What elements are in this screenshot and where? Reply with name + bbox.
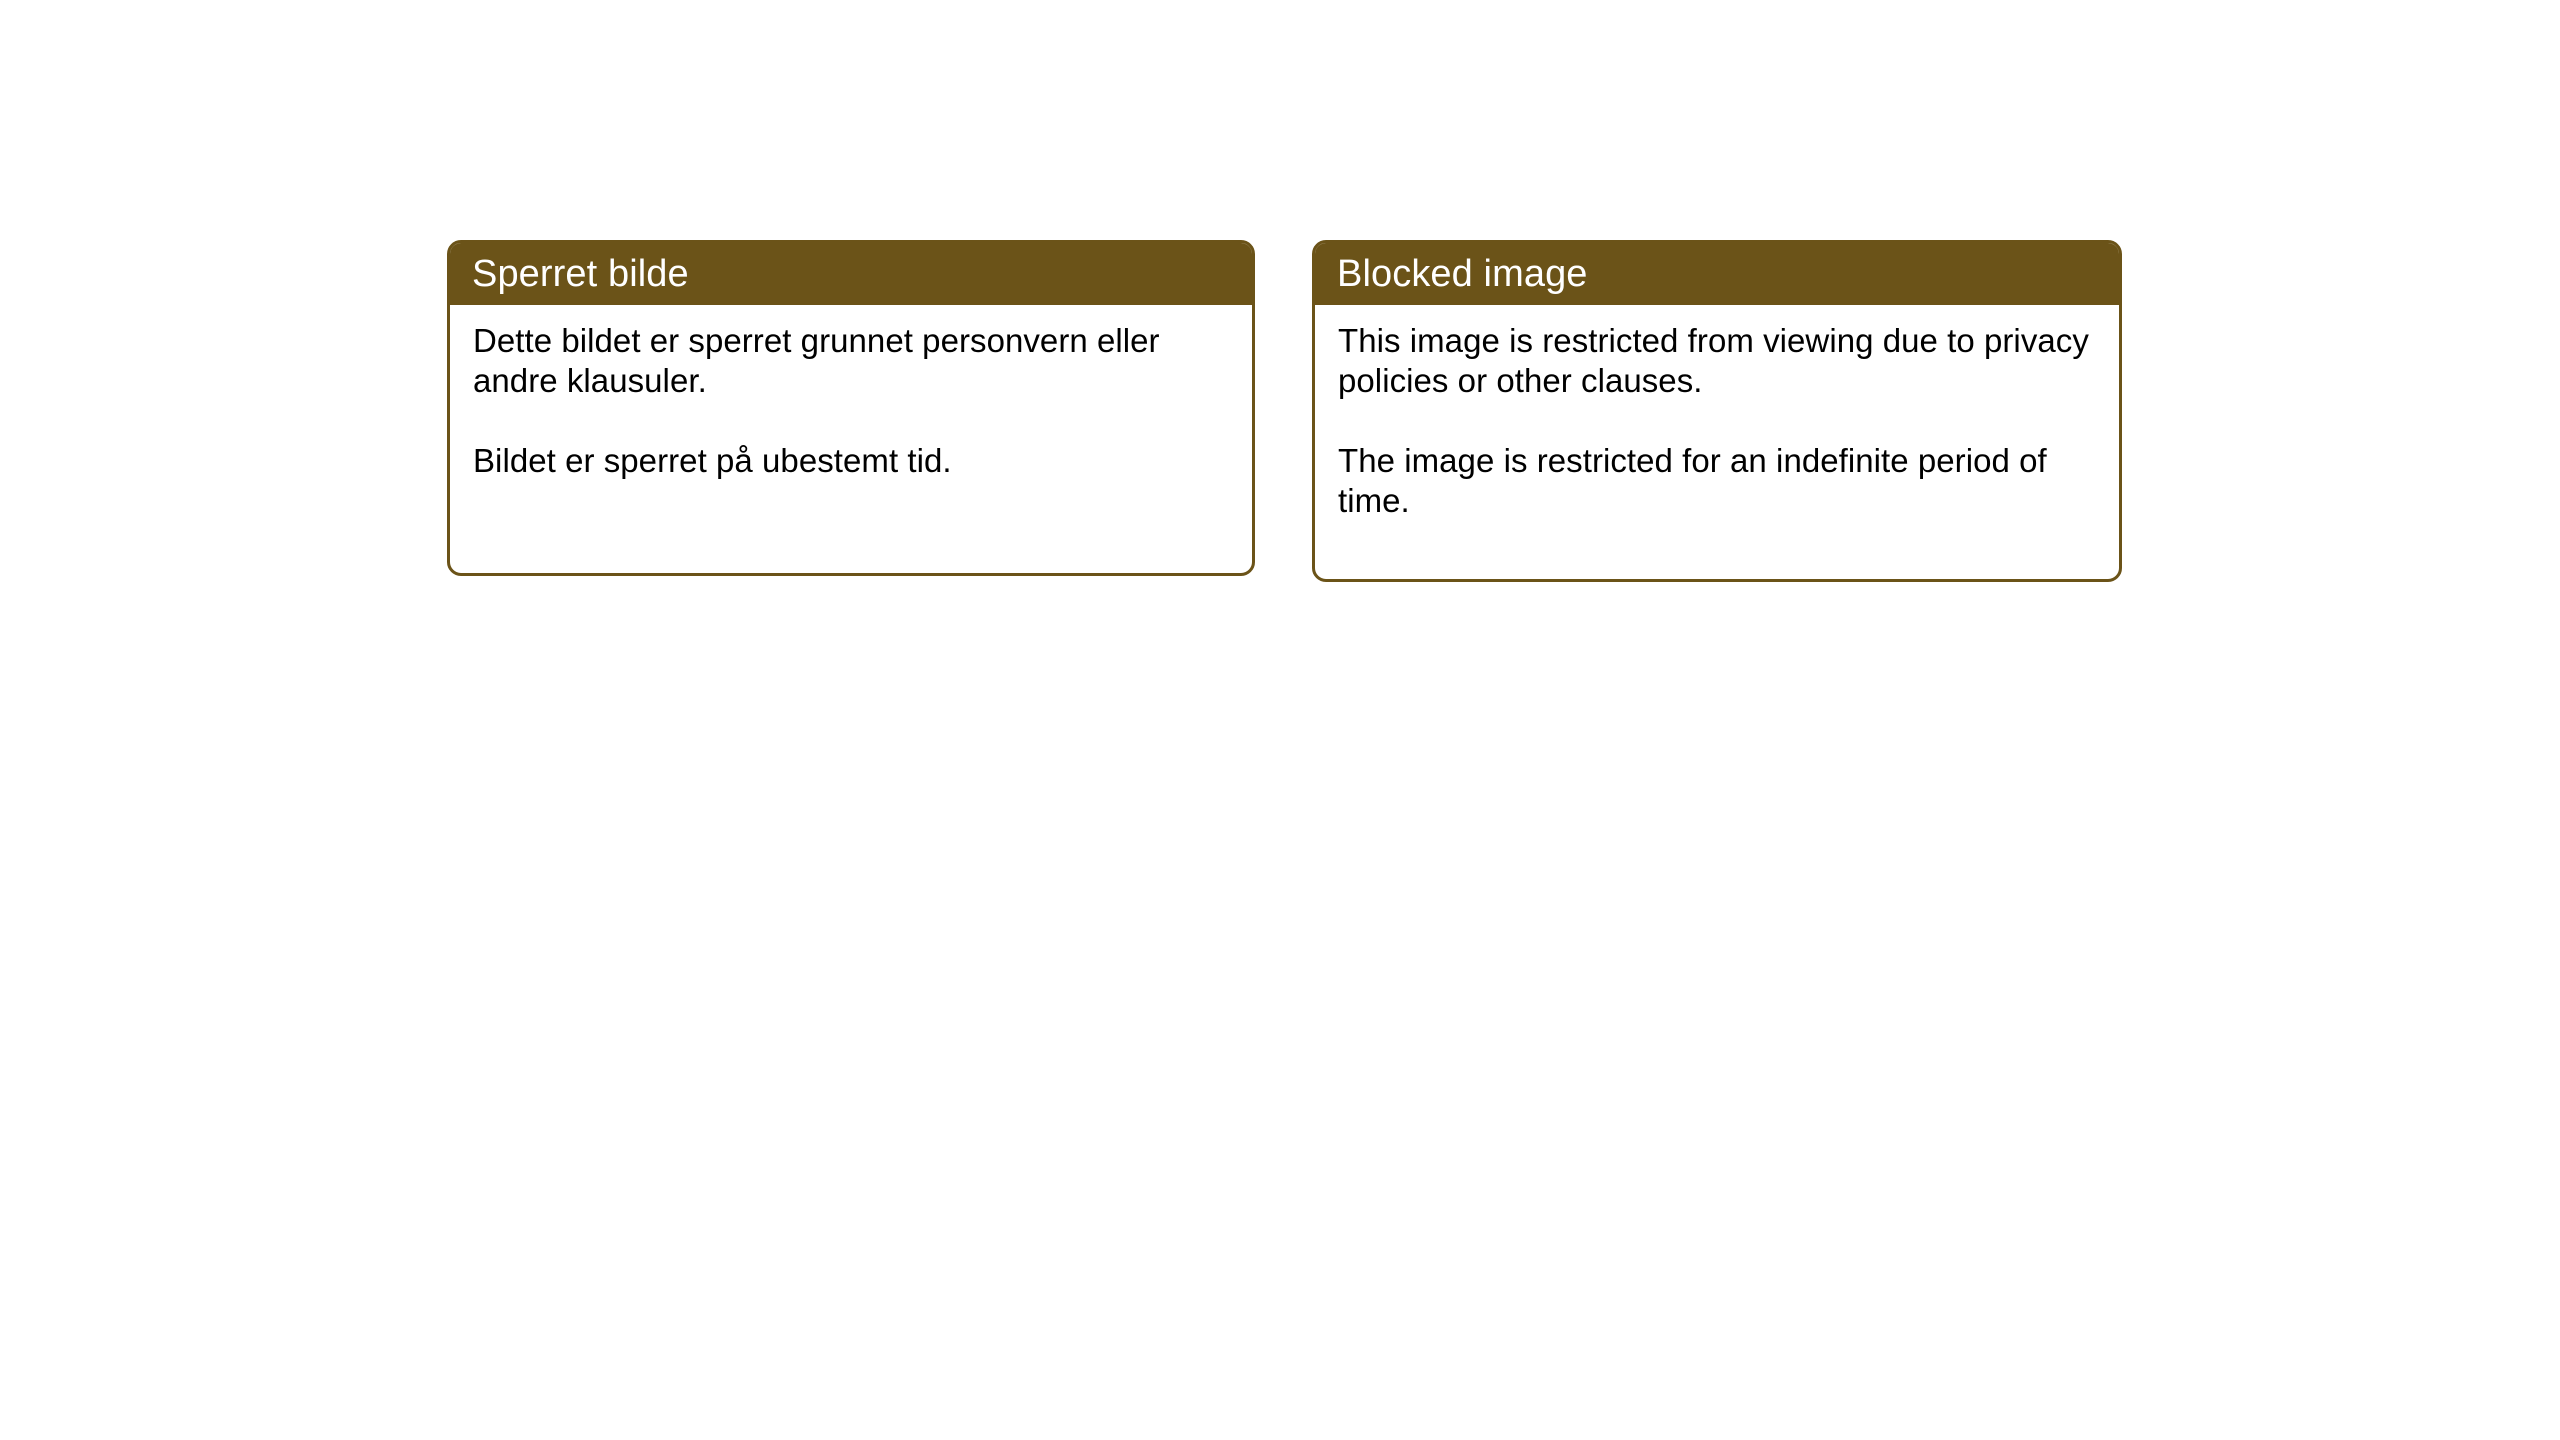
blocked-image-panel-english: Blocked image This image is restricted f…: [1312, 240, 2122, 582]
panel-title-english: Blocked image: [1337, 255, 1588, 293]
panel-header-english: Blocked image: [1315, 243, 2119, 305]
panel-paragraph-duration-norwegian: Bildet er sperret på ubestemt tid.: [473, 441, 1228, 481]
panel-header-norwegian: Sperret bilde: [450, 243, 1252, 305]
panel-body-norwegian: Dette bildet er sperret grunnet personve…: [450, 305, 1252, 481]
blocked-image-panel-norwegian: Sperret bilde Dette bildet er sperret gr…: [447, 240, 1255, 576]
panel-body-english: This image is restricted from viewing du…: [1315, 305, 2119, 520]
panel-paragraph-reason-english: This image is restricted from viewing du…: [1338, 321, 2095, 400]
page-canvas: Sperret bilde Dette bildet er sperret gr…: [0, 0, 2560, 1440]
panel-paragraph-duration-english: The image is restricted for an indefinit…: [1338, 441, 2095, 520]
panel-title-norwegian: Sperret bilde: [472, 255, 689, 293]
panel-paragraph-reason-norwegian: Dette bildet er sperret grunnet personve…: [473, 321, 1228, 400]
